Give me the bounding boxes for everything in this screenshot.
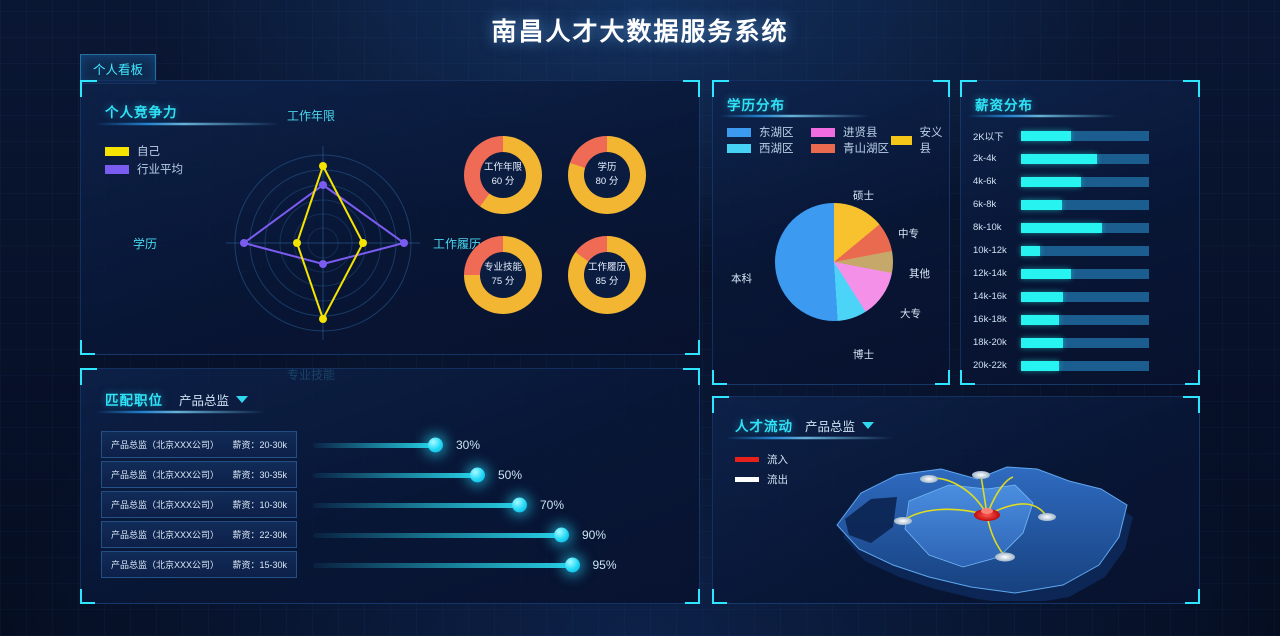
progress-bar xyxy=(313,503,520,508)
title-underline xyxy=(95,411,265,413)
job-list-item[interactable]: 产品总监（北京XXX公司）薪资：10-30k xyxy=(101,491,297,518)
legend-item-self: 自己 xyxy=(105,143,160,159)
salary-bar-row: 10k-12k xyxy=(973,244,1149,257)
legend-swatch-donghu xyxy=(727,128,751,137)
job-salary: 薪资：15-30k xyxy=(232,558,287,571)
panel-matched-jobs: 匹配职位 产品总监 产品总监（北京XXX公司）薪资：20-30k30%产品总监（… xyxy=(80,368,700,604)
legend-label-industry-average: 行业平均 xyxy=(137,161,183,177)
progress-bar xyxy=(313,563,573,568)
panel-competitiveness: 个人竞争力 自己 行业平均 xyxy=(80,80,700,355)
donut-score-worktime: 60 分 xyxy=(492,177,515,187)
legend-swatch-inflow xyxy=(735,457,759,462)
legend-item-anyi: 安义县 xyxy=(891,124,949,156)
title-underline xyxy=(725,437,893,439)
salary-bar-fill xyxy=(1021,131,1071,141)
salary-bar-track xyxy=(1021,223,1149,233)
legend-swatch-qingshanhu xyxy=(811,144,835,153)
flow-filter-dropdown[interactable]: 产品总监 xyxy=(805,416,874,435)
page-title: 南昌人才大数据服务系统 xyxy=(491,12,788,48)
header: 南昌人才大数据服务系统 xyxy=(0,0,1280,60)
job-title: 产品总监（北京XXX公司） xyxy=(111,438,219,451)
legend-swatch-jinxian xyxy=(811,128,835,137)
salary-bar-fill xyxy=(1021,292,1063,302)
pie-label-vocational: 中专 xyxy=(898,226,919,241)
salary-bar-row: 6k-8k xyxy=(973,198,1149,211)
job-title: 产品总监（北京XXX公司） xyxy=(111,558,219,571)
pie-label-bachelor: 本科 xyxy=(731,271,752,286)
radar-axis-label-education: 学历 xyxy=(133,235,157,252)
salary-bar-row: 20k-22k xyxy=(973,359,1149,372)
salary-bar-fill xyxy=(1021,315,1059,325)
salary-bar-fill xyxy=(1021,154,1097,164)
donut-score-skill: 75 分 xyxy=(492,277,515,287)
salary-bar-row: 14k-16k xyxy=(973,290,1149,303)
progress-percent: 95% xyxy=(593,558,617,572)
salary-bar-fill xyxy=(1021,338,1063,348)
map-svg xyxy=(801,445,1193,601)
flow-title: 人才流动 xyxy=(735,415,793,435)
salary-bar-track xyxy=(1021,131,1149,141)
progress-percent: 50% xyxy=(498,468,522,482)
salary-bar-track xyxy=(1021,292,1149,302)
job-match-progress[interactable]: 50% xyxy=(313,464,522,486)
job-match-progress[interactable]: 95% xyxy=(313,554,617,576)
salary-bar-row: 18k-20k xyxy=(973,336,1149,349)
legend-item-xihu: 西湖区 xyxy=(727,140,794,156)
job-match-progress[interactable]: 70% xyxy=(313,494,564,516)
donut-label-education: 学历 xyxy=(597,163,616,173)
salary-bar-label: 12k-14k xyxy=(973,268,1021,279)
job-salary: 薪资：10-30k xyxy=(232,498,287,511)
progress-knob[interactable] xyxy=(512,498,527,513)
education-pie-chart xyxy=(775,203,893,321)
legend-label-donghu: 东湖区 xyxy=(759,124,794,140)
salary-bar-label: 4k-6k xyxy=(973,176,1021,187)
legend-item-jinxian: 进贤县 xyxy=(811,124,878,140)
salary-bar-row: 12k-14k xyxy=(973,267,1149,280)
legend-label-self: 自己 xyxy=(137,143,160,159)
jobs-filter-value: 产品总监 xyxy=(179,390,229,409)
progress-percent: 90% xyxy=(582,528,606,542)
legend-swatch-outflow xyxy=(735,477,759,482)
salary-bar-row: 4k-6k xyxy=(973,175,1149,188)
radar-chart: 工作年限 工作履历 专业技能 学历 xyxy=(201,111,446,351)
salary-title: 薪资分布 xyxy=(975,94,1033,114)
salary-bar-fill xyxy=(1021,200,1062,210)
salary-bar-fill xyxy=(1021,269,1071,279)
legend-item-inflow: 流入 xyxy=(735,452,788,467)
legend-swatch-xihu xyxy=(727,144,751,153)
radar-axis-label-worktime: 工作年限 xyxy=(287,107,335,124)
pie-label-college: 大专 xyxy=(900,306,921,321)
salary-bar-track xyxy=(1021,246,1149,256)
legend-item-qingshanhu: 青山湖区 xyxy=(811,140,889,156)
legend-label-jinxian: 进贤县 xyxy=(843,124,878,140)
flow-filter-value: 产品总监 xyxy=(805,416,855,435)
salary-bar-fill xyxy=(1021,223,1102,233)
education-title: 学历分布 xyxy=(727,94,785,114)
donut-score-experience: 85 分 xyxy=(596,277,619,287)
progress-knob[interactable] xyxy=(470,468,485,483)
salary-bar-track xyxy=(1021,361,1149,371)
flow-legend: 流入 流出 xyxy=(735,452,788,492)
legend-item-outflow: 流出 xyxy=(735,472,788,487)
progress-percent: 30% xyxy=(456,438,480,452)
pie-label-other: 其他 xyxy=(909,266,930,281)
salary-bar-label: 16k-18k xyxy=(973,314,1021,325)
legend-label-xihu: 西湖区 xyxy=(759,140,794,156)
salary-bar-row: 16k-18k xyxy=(973,313,1149,326)
salary-bar-row: 2k-4k xyxy=(973,152,1149,165)
job-match-progress[interactable]: 30% xyxy=(313,434,480,456)
title-underline xyxy=(719,115,869,117)
legend-swatch-anyi xyxy=(891,136,912,145)
salary-bar-label: 18k-20k xyxy=(973,337,1021,348)
panel-talent-flow: 人才流动 产品总监 流入 流出 xyxy=(712,396,1200,604)
salary-bar-fill xyxy=(1021,177,1081,187)
salary-bar-track xyxy=(1021,200,1149,210)
progress-knob[interactable] xyxy=(554,528,569,543)
legend-swatch-industry-average xyxy=(105,165,129,174)
donut-score-education: 80 分 xyxy=(596,177,619,187)
progress-bar xyxy=(313,533,562,538)
chevron-down-icon xyxy=(236,396,248,403)
title-underline xyxy=(967,115,1117,117)
progress-bar xyxy=(313,443,436,448)
pie-label-master: 硕士 xyxy=(853,188,874,203)
progress-percent: 70% xyxy=(540,498,564,512)
progress-knob[interactable] xyxy=(565,558,580,573)
job-salary: 薪资：30-35k xyxy=(232,468,287,481)
job-title: 产品总监（北京XXX公司） xyxy=(111,528,219,541)
panel-education-distribution: 学历分布 东湖区 西湖区 进贤县 青山湖区 安义县 硕士 中专 其他 大专 博士… xyxy=(712,80,950,385)
donut-skill: 专业技能 75 分 xyxy=(464,236,542,314)
salary-bar-track xyxy=(1021,177,1149,187)
salary-bar-label: 10k-12k xyxy=(973,245,1021,256)
job-list-item[interactable]: 产品总监（北京XXX公司）薪资：30-35k xyxy=(101,461,297,488)
salary-bar-track xyxy=(1021,315,1149,325)
chevron-down-icon xyxy=(862,422,874,429)
job-title: 产品总监（北京XXX公司） xyxy=(111,498,219,511)
salary-bar-label: 8k-10k xyxy=(973,222,1021,233)
job-list-item[interactable]: 产品总监（北京XXX公司）薪资：20-30k xyxy=(101,431,297,458)
radar-svg xyxy=(201,111,446,351)
job-list-item[interactable]: 产品总监（北京XXX公司）薪资：22-30k xyxy=(101,521,297,548)
legend-item-industry-average: 行业平均 xyxy=(105,161,183,177)
legend-label-anyi: 安义县 xyxy=(920,124,949,156)
donut-label-experience: 工作履历 xyxy=(588,263,626,273)
salary-bar-label: 6k-8k xyxy=(973,199,1021,210)
pie-label-doctor: 博士 xyxy=(853,347,874,362)
donut-label-worktime: 工作年限 xyxy=(484,163,522,173)
legend-swatch-self xyxy=(105,147,129,156)
jobs-filter-dropdown[interactable]: 产品总监 xyxy=(179,390,248,409)
job-list-item[interactable]: 产品总监（北京XXX公司）薪资：15-30k xyxy=(101,551,297,578)
panel-salary-distribution: 薪资分布 2K以下2k-4k4k-6k6k-8k8k-10k10k-12k12k… xyxy=(960,80,1200,385)
salary-bar-fill xyxy=(1021,361,1059,371)
job-match-progress[interactable]: 90% xyxy=(313,524,606,546)
job-salary: 薪资：20-30k xyxy=(232,438,287,451)
legend-label-qingshanhu: 青山湖区 xyxy=(843,140,889,156)
salary-bar-label: 2k-4k xyxy=(973,153,1021,164)
salary-bar-track xyxy=(1021,338,1149,348)
progress-knob[interactable] xyxy=(428,438,443,453)
legend-label-inflow: 流入 xyxy=(767,452,788,467)
talent-flow-map[interactable] xyxy=(801,445,1193,601)
legend-label-outflow: 流出 xyxy=(767,472,788,487)
salary-bar-row: 8k-10k xyxy=(973,221,1149,234)
progress-bar xyxy=(313,473,478,478)
salary-bar-label: 14k-16k xyxy=(973,291,1021,302)
donut-education: 学历 80 分 xyxy=(568,136,646,214)
competitiveness-title: 个人竞争力 xyxy=(105,101,178,121)
job-title: 产品总监（北京XXX公司） xyxy=(111,468,219,481)
salary-bar-track xyxy=(1021,269,1149,279)
salary-bar-label: 2K以下 xyxy=(973,129,1021,143)
salary-bar-track xyxy=(1021,154,1149,164)
salary-bar-row: 2K以下 xyxy=(973,129,1149,142)
donut-experience: 工作履历 85 分 xyxy=(568,236,646,314)
salary-bar-fill xyxy=(1021,246,1040,256)
job-salary: 薪资：22-30k xyxy=(232,528,287,541)
jobs-title: 匹配职位 xyxy=(105,389,163,409)
donut-worktime: 工作年限 60 分 xyxy=(464,136,542,214)
legend-item-donghu: 东湖区 xyxy=(727,124,794,140)
donut-label-skill: 专业技能 xyxy=(484,263,522,273)
salary-bar-label: 20k-22k xyxy=(973,360,1021,371)
